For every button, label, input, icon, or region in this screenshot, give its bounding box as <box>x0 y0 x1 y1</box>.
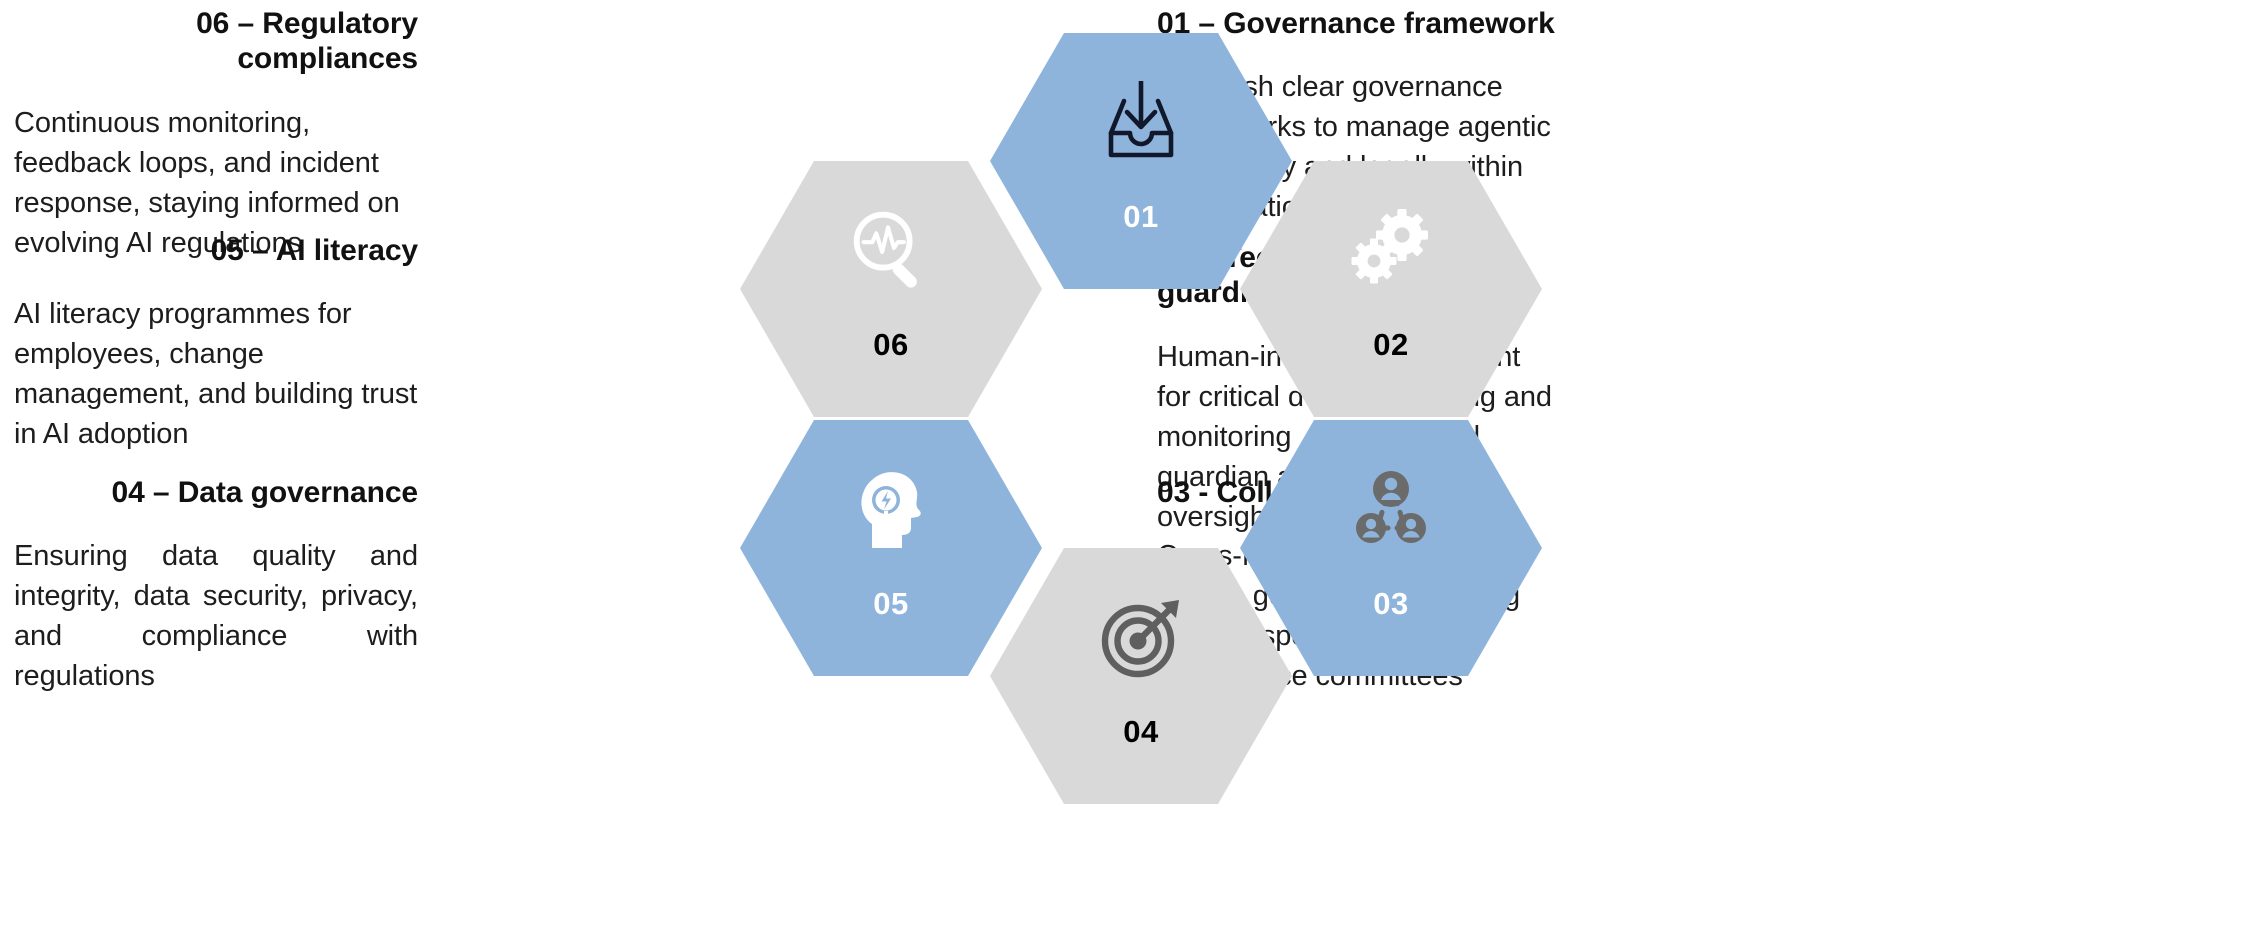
hexagon-03-number: 03 <box>1240 586 1542 622</box>
inbox-download-tray-icon <box>1089 69 1193 173</box>
magnifier-pulse-monitoring-icon <box>839 197 943 301</box>
hexagon-05-number: 05 <box>740 586 1042 622</box>
block-04-body: Ensuring data quality and integrity, dat… <box>14 536 418 696</box>
hexagon-02-number: 02 <box>1240 327 1542 363</box>
hexagon-05[interactable]: 05 <box>740 420 1042 676</box>
people-network-collaboration-icon <box>1339 456 1443 560</box>
hexagon-01-number: 01 <box>990 199 1292 235</box>
gears-icon <box>1339 197 1443 301</box>
text-block-04: 04 – Data governance Ensuring data quali… <box>14 475 418 696</box>
text-block-06: 06 – Regulatory compliances Continuous m… <box>14 6 418 263</box>
target-arrow-icon <box>1089 584 1193 688</box>
block-06-title: 06 – Regulatory compliances <box>14 6 418 77</box>
text-block-05: 05 – AI literacy AI literacy programmes … <box>14 233 418 454</box>
block-05-body: AI literacy programmes for employees, ch… <box>14 294 418 454</box>
block-04-title: 04 – Data governance <box>14 475 418 510</box>
hexagon-06[interactable]: 06 <box>740 161 1042 417</box>
hexagon-04-number: 04 <box>990 714 1292 750</box>
diagram-canvas: 06 – Regulatory compliances Continuous m… <box>0 0 2257 931</box>
block-05-title: 05 – AI literacy <box>14 233 418 268</box>
hexagon-06-number: 06 <box>740 327 1042 363</box>
head-lightbulb-idea-icon <box>839 456 943 560</box>
